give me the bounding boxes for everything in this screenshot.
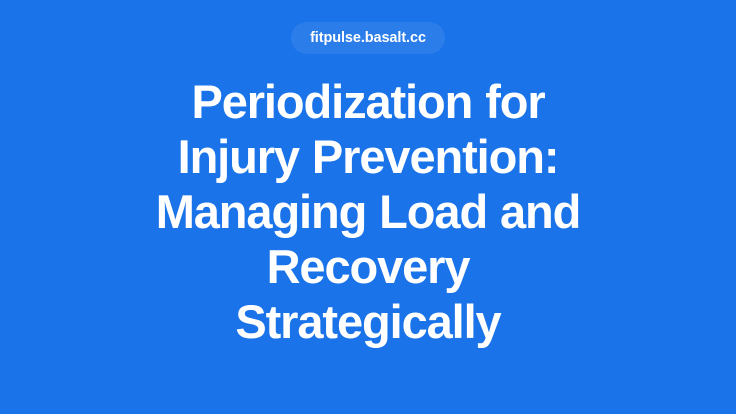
page-title-line-5: Strategically (24, 294, 712, 349)
page-title-line-1: Periodization for (24, 74, 712, 129)
site-domain-badge: fitpulse.basalt.cc (291, 22, 445, 54)
page-title-line-2: Injury Prevention: (24, 129, 712, 184)
page-title: Periodization for Injury Prevention: Man… (0, 74, 736, 349)
page-title-line-4: Recovery (24, 239, 712, 294)
page-title-line-3: Managing Load and (24, 184, 712, 239)
site-domain-label: fitpulse.basalt.cc (310, 31, 426, 46)
social-share-card: fitpulse.basalt.cc Periodization for Inj… (0, 0, 736, 414)
